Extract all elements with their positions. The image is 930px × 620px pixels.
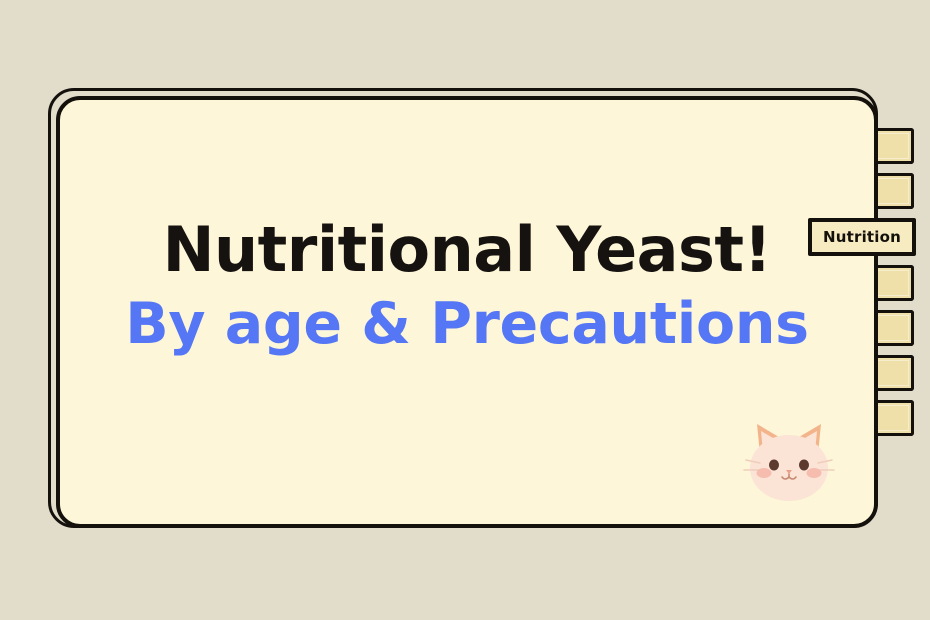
card: Nutritional Yeast! By age & Precautions	[56, 96, 878, 528]
index-tab-7[interactable]	[872, 400, 914, 436]
index-tab-2[interactable]	[872, 173, 914, 209]
index-tab-5[interactable]	[872, 310, 914, 346]
cat-face-icon	[734, 410, 844, 510]
slide-canvas: Nutritional Yeast! By age & Precautions	[0, 0, 930, 620]
page-title: Nutritional Yeast!	[60, 218, 874, 281]
index-tab-nutrition-label: Nutrition	[823, 228, 901, 246]
index-tab-4[interactable]	[872, 265, 914, 301]
index-tab-nutrition[interactable]: Nutrition	[808, 218, 916, 256]
page-subtitle: By age & Precautions	[60, 295, 874, 355]
headings-block: Nutritional Yeast! By age & Precautions	[60, 218, 874, 355]
index-tab-6[interactable]	[872, 355, 914, 391]
index-tab-1[interactable]	[872, 128, 914, 164]
index-tab-rail	[872, 128, 930, 410]
